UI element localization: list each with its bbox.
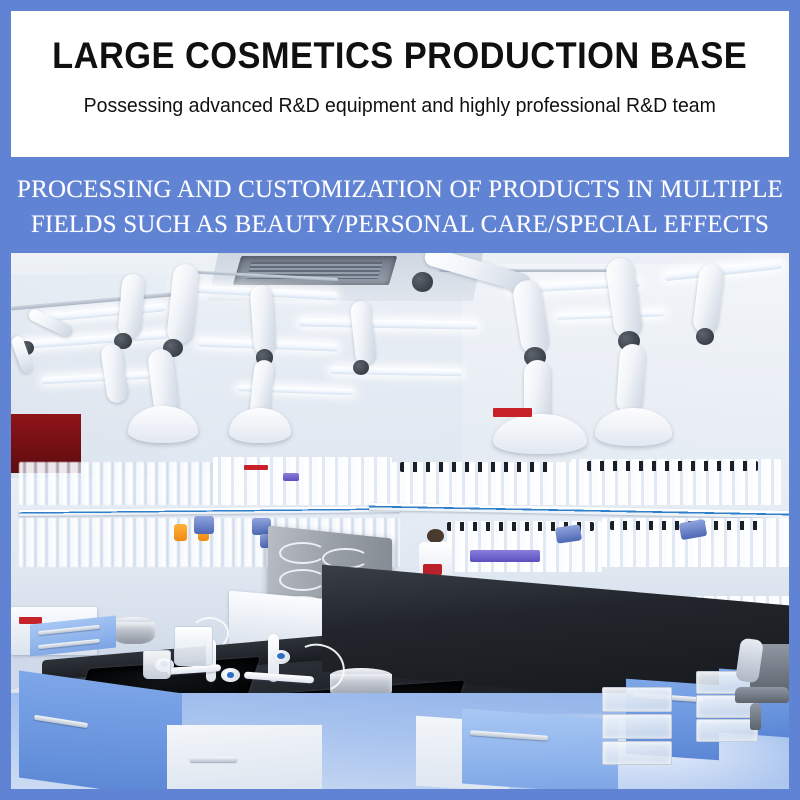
- fume-extraction-arm: [615, 343, 646, 414]
- cabinet-handle: [190, 757, 237, 762]
- tagline-line-1: PROCESSING AND CUSTOMIZATION OF PRODUCTS…: [17, 176, 783, 204]
- glassware-cluster: [19, 462, 214, 505]
- glass-condenser-coil: [279, 542, 326, 563]
- tagline-line-2: FIELDS SUCH AS BEAUTY/PERSONAL CARE/SPEC…: [31, 211, 769, 239]
- page-subtitle: Possessing advanced R&D equipment and hi…: [84, 95, 716, 118]
- stainless-pot: [112, 622, 155, 645]
- ceiling-ac-vent: [232, 256, 396, 285]
- promo-banner: LARGE COSMETICS PRODUCTION BASE Possessi…: [0, 0, 800, 800]
- clear-storage-drawer[interactable]: [602, 687, 672, 712]
- clear-storage-drawer[interactable]: [602, 714, 672, 739]
- page-title: LARGE COSMETICS PRODUCTION BASE: [52, 37, 747, 76]
- tagline-block: PROCESSING AND CUSTOMIZATION OF PRODUCTS…: [11, 157, 789, 253]
- red-wall-sign: [493, 408, 532, 417]
- blue-base-cabinet: [462, 709, 618, 789]
- reagent-bottle-row: [213, 457, 392, 505]
- glass-condenser-coil: [279, 569, 326, 590]
- dropper-cap-row: [400, 462, 556, 472]
- dropper-cap-row: [587, 461, 758, 471]
- purple-reagent-box: [283, 473, 299, 482]
- fume-arm-joint: [353, 360, 369, 375]
- laboratory-photo: [11, 253, 789, 789]
- purple-tray-row: [470, 550, 540, 562]
- lab-chair-seat: [735, 687, 789, 703]
- red-label-strip: [244, 465, 267, 470]
- clear-storage-drawer[interactable]: [602, 741, 672, 766]
- header-card: LARGE COSMETICS PRODUCTION BASE Possessi…: [11, 11, 789, 157]
- clear-storage-drawer[interactable]: [696, 719, 758, 742]
- orange-reagent-bottle: [174, 524, 186, 541]
- blue-lab-instrument: [194, 516, 214, 535]
- lab-chair-post: [750, 703, 761, 730]
- wash-bottle-jug: [174, 626, 213, 666]
- wash-bottle-jug: [143, 650, 171, 679]
